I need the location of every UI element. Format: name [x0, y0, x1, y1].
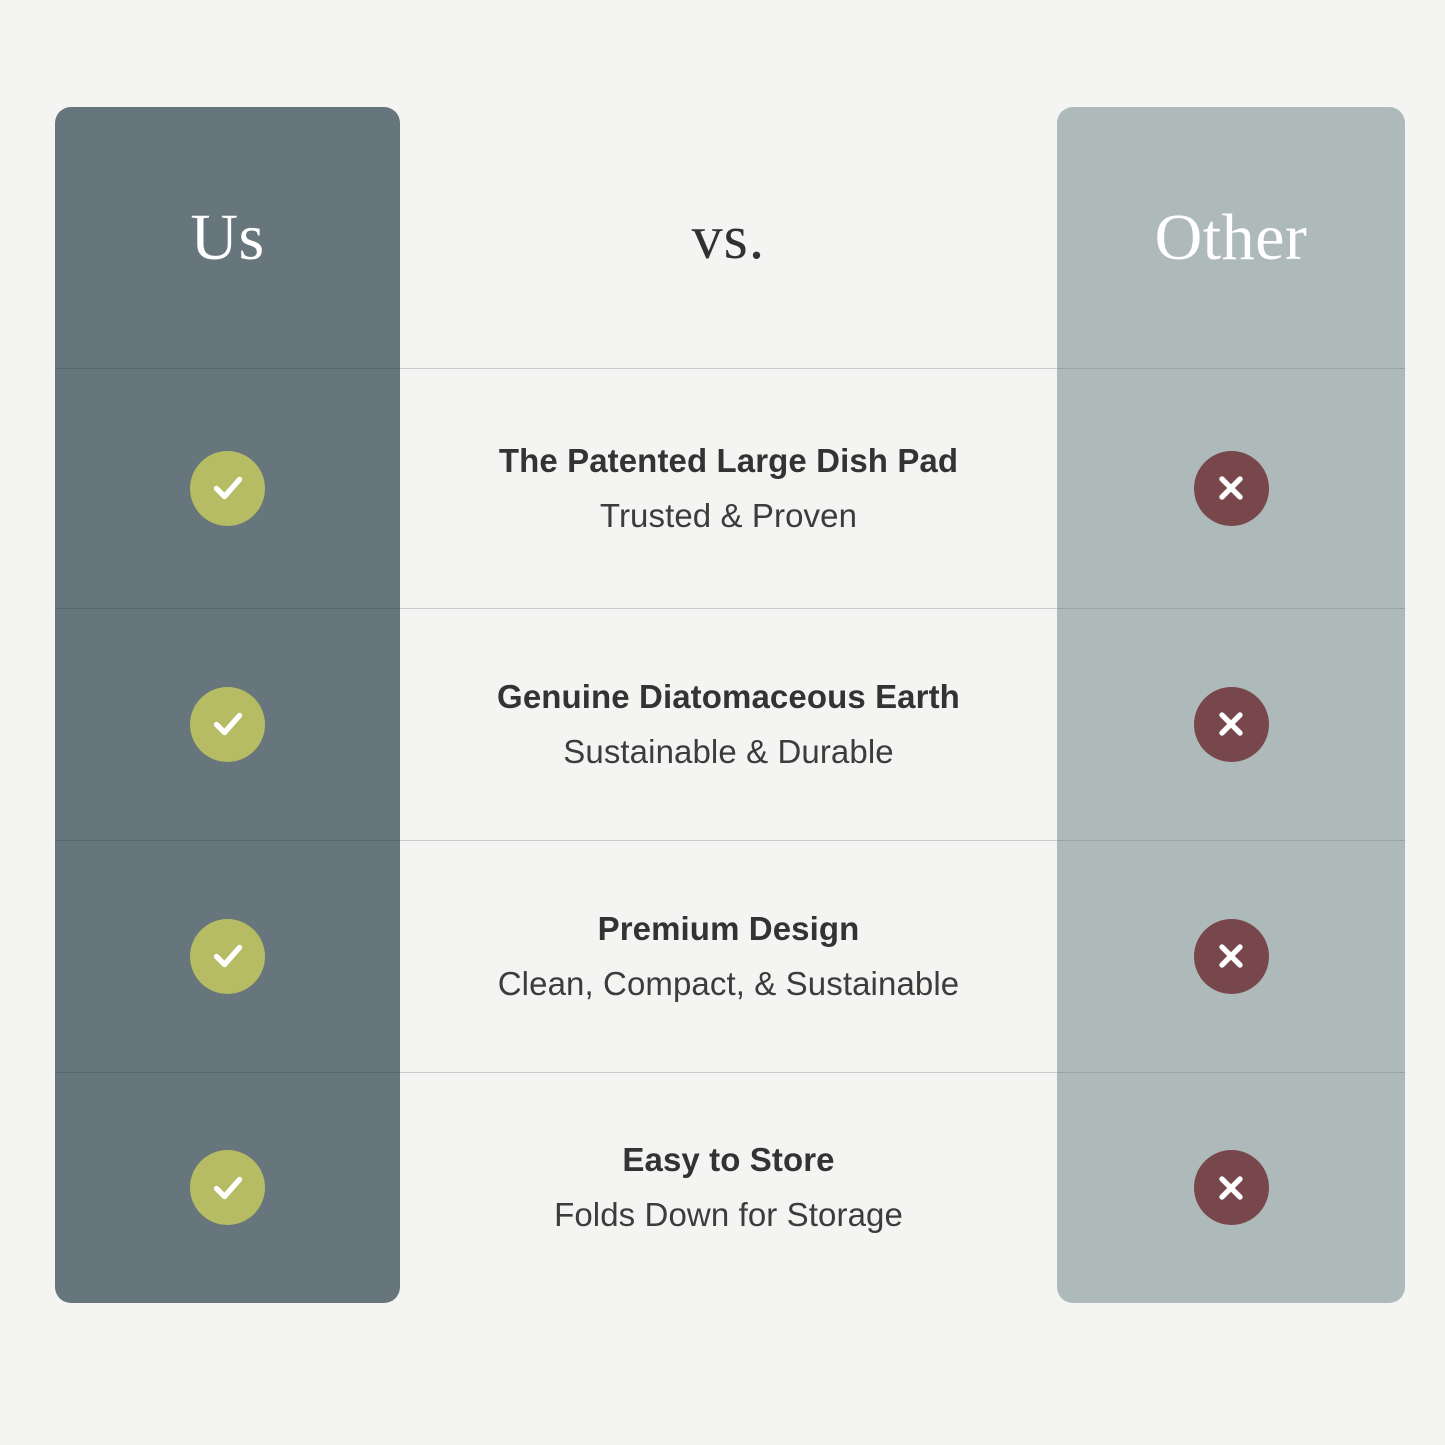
feature-title: Premium Design: [598, 910, 860, 948]
table-row: Easy to Store Folds Down for Storage: [0, 1072, 1445, 1303]
cross-icon: [1194, 451, 1269, 526]
row-3-other-status: [1057, 840, 1405, 1072]
table-row: The Patented Large Dish Pad Trusted & Pr…: [0, 368, 1445, 608]
header-cell-vs: vs.: [400, 107, 1057, 368]
check-icon: [190, 1150, 265, 1225]
comparison-table: Us vs. Other The Patented Large Dish Pad…: [0, 0, 1445, 1445]
check-icon: [190, 919, 265, 994]
table-header: Us vs. Other: [0, 107, 1445, 368]
feature-title: Easy to Store: [622, 1141, 834, 1179]
row-3-feature: Premium Design Clean, Compact, & Sustain…: [400, 840, 1057, 1072]
check-icon: [190, 687, 265, 762]
row-2-us-status: [55, 608, 400, 840]
row-4-us-status: [55, 1072, 400, 1303]
feature-subtitle: Folds Down for Storage: [554, 1196, 903, 1234]
row-2-feature: Genuine Diatomaceous Earth Sustainable &…: [400, 608, 1057, 840]
feature-subtitle: Clean, Compact, & Sustainable: [498, 965, 959, 1003]
header-cell-other: Other: [1057, 107, 1405, 368]
feature-subtitle: Sustainable & Durable: [563, 733, 893, 771]
feature-title: Genuine Diatomaceous Earth: [497, 678, 960, 716]
row-4-feature: Easy to Store Folds Down for Storage: [400, 1072, 1057, 1303]
header-cell-us: Us: [55, 107, 400, 368]
cross-icon: [1194, 1150, 1269, 1225]
row-1-feature: The Patented Large Dish Pad Trusted & Pr…: [400, 368, 1057, 608]
cross-icon: [1194, 687, 1269, 762]
cross-icon: [1194, 919, 1269, 994]
row-4-other-status: [1057, 1072, 1405, 1303]
check-icon: [190, 451, 265, 526]
table-row: Genuine Diatomaceous Earth Sustainable &…: [0, 608, 1445, 840]
other-column-title: Other: [1155, 205, 1308, 271]
table-row: Premium Design Clean, Compact, & Sustain…: [0, 840, 1445, 1072]
feature-subtitle: Trusted & Proven: [600, 497, 857, 535]
us-column-title: Us: [190, 205, 264, 271]
row-3-us-status: [55, 840, 400, 1072]
row-1-us-status: [55, 368, 400, 608]
vs-label: vs.: [692, 207, 766, 269]
row-1-other-status: [1057, 368, 1405, 608]
row-2-other-status: [1057, 608, 1405, 840]
feature-title: The Patented Large Dish Pad: [499, 442, 958, 480]
